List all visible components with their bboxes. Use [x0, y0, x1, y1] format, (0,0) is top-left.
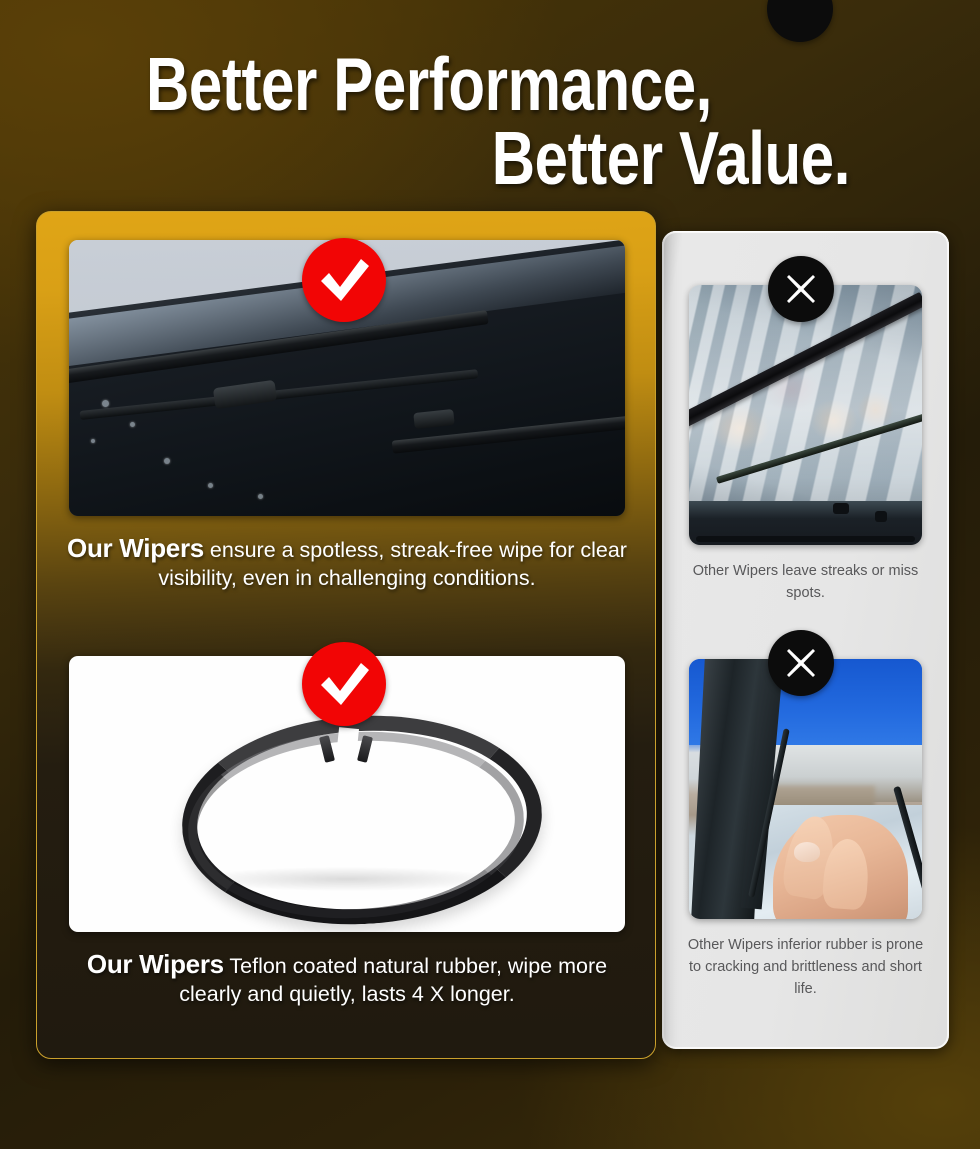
competitor-item-1: Other Wipers leave streaks or miss spots… [662, 285, 949, 604]
streaky-frosty-windshield-photo [689, 285, 922, 545]
x-circle-icon-1 [768, 256, 834, 322]
headline-line-2: Better Value. [125, 122, 855, 196]
x-circle-icon [767, 0, 833, 42]
wiper-arm-shape [716, 413, 922, 484]
x-mark-icon [784, 646, 818, 680]
competitor-item-2: Other Wipers inferior rubber is prone to… [662, 659, 949, 1000]
page-title: Better Performance, Better Value. [98, 48, 882, 195]
dashboard-shape [689, 501, 922, 545]
wiper-nub-shape [875, 511, 887, 522]
x-circle-icon-2 [768, 630, 834, 696]
our-product-caption-2: Our Wipers Teflon coated natural rubber,… [60, 948, 634, 1008]
fingernail-shape [794, 842, 820, 862]
competitor-caption-1: Other Wipers leave streaks or miss spots… [682, 560, 930, 604]
water-droplet-shape [164, 458, 170, 464]
our-wipers-description: Teflon coated natural rubber, wipe more … [179, 954, 607, 1006]
our-wipers-label: Our Wipers [87, 949, 224, 979]
cracked-rubber-blade-in-hand-photo [689, 659, 922, 919]
our-product-panel: Our Wipers ensure a spotless, streak-fre… [36, 211, 656, 1059]
check-mark-icon [317, 661, 371, 707]
our-wipers-description: ensure a spotless, streak-free wipe for … [158, 538, 627, 590]
check-circle-icon-2 [302, 642, 386, 726]
check-circle-icon-1 [302, 238, 386, 322]
headline-line-1: Better Performance, [125, 48, 855, 122]
water-droplet-shape [91, 439, 95, 443]
dashboard-edge [696, 536, 915, 542]
water-droplet-shape [258, 494, 263, 499]
competitor-caption-2: Other Wipers inferior rubber is prone to… [682, 934, 930, 1000]
infographic-page: Better Performance, Better Value. Other … [0, 0, 980, 1149]
coil-gap-shape [335, 727, 359, 769]
wiper-nub-shape [833, 503, 849, 514]
our-product-caption-1: Our Wipers ensure a spotless, streak-fre… [60, 532, 634, 592]
check-mark-icon [317, 257, 371, 303]
our-wipers-label: Our Wipers [67, 533, 204, 563]
water-droplet-shape [208, 483, 213, 488]
x-mark-icon [784, 272, 818, 306]
